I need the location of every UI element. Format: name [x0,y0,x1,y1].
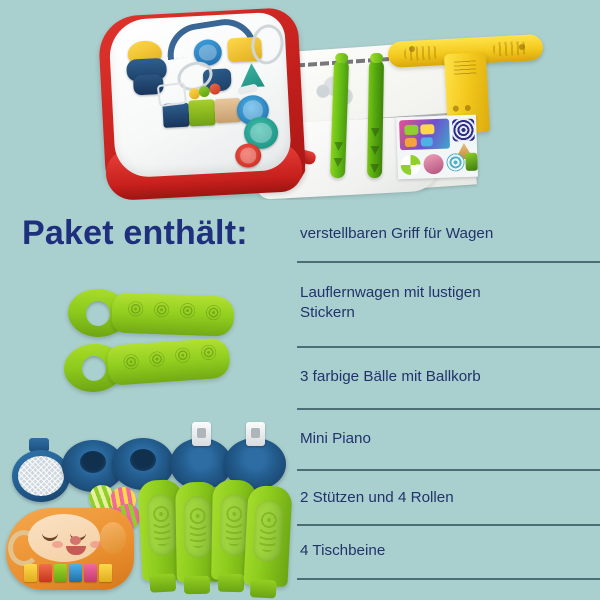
piano-cheek-right [90,541,101,548]
leg-emboss [190,508,207,548]
grip-arm [106,337,230,385]
rail-notch [371,128,380,137]
leg-foot [184,576,210,594]
walker-white-tray [108,12,292,179]
screw-hole [453,105,459,111]
rail-cap [370,53,383,63]
sticker-photo [465,153,478,171]
ball-basket-net [12,442,70,502]
green-rail-right [367,60,384,178]
list-item: Lauflernwagen mit lustigen Stickern [297,263,600,346]
green-slider-key [188,99,215,126]
leg-foot [218,574,244,592]
rail-notch [333,158,342,167]
piano-eye-left [42,530,58,541]
piano-key [54,564,67,582]
rail-notch [370,146,379,155]
leg-foot [149,573,176,592]
embossed-slot [237,83,258,95]
list-item-label: verstellbaren Griff für Wagen [297,206,600,261]
piano-key [69,564,82,582]
piano-mouth [66,546,86,555]
piano-key [99,564,112,582]
list-item: 4 Tischbeine [297,526,600,578]
swirl-emboss [201,344,217,360]
leg-emboss [153,506,171,547]
sticker-car [404,125,418,135]
sticker-pinwheel [400,155,421,176]
swirl-emboss [154,302,170,318]
list-item-label: 2 Stützen und 4 Rollen [297,471,600,524]
red-gear [235,143,262,168]
list-item: Mini Piano [297,410,600,469]
grip-arm [111,293,234,337]
leg-foot [250,579,277,598]
wheel-axle-cap [246,422,265,446]
basket-mesh [18,456,64,496]
list-item: 3 farbige Bälle mit Ballkorb [297,348,600,408]
screw-hole [409,46,415,52]
wheel-hub [130,449,156,471]
piano-keys [24,564,112,582]
screw-hole [465,105,471,111]
leg-emboss [226,506,243,546]
swirl-emboss [206,305,222,321]
sticker-maze [452,119,475,142]
list-item-label: 4 Tischbeine [297,526,600,578]
rail-cap [335,53,348,63]
product-listing-page: Paket enthält: verstellbaren Griff für W… [0,0,600,600]
piano-nose [70,536,81,545]
list-item: 2 Stützen und 4 Rollen [297,471,600,524]
page-title: Paket enthält: [22,214,248,253]
wheel-axle-cap [192,422,211,446]
sticker-sheet [396,115,478,180]
list-item-label: 3 farbige Bälle mit Ballkorb [297,348,600,408]
sticker-car [421,137,433,146]
green-support-grips-photo [52,284,282,408]
yellow-t-handle [388,33,543,128]
swirl-emboss [123,354,139,370]
green-grip-right [62,346,65,394]
list-item-label: Lauflernwagen mit lustigen Stickern [297,263,516,346]
list-item: verstellbaren Griff für Wagen [297,206,600,261]
swirl-emboss [128,301,144,317]
top-product-photo [0,0,600,200]
sticker-face [423,154,444,175]
swirl-emboss [180,303,196,319]
package-contents-list: verstellbaren Griff für Wagen Lauflernwa… [297,206,600,580]
green-grip-left [67,288,69,336]
piano-key [24,564,37,582]
swirl-emboss [175,347,191,363]
sticker-spiral [446,153,465,172]
green-table-leg-4 [243,485,292,587]
molded-label-text [454,60,477,75]
accessories-photo [0,430,295,600]
piano-key [39,564,52,582]
leg-emboss [259,512,277,553]
screw-hole [519,44,525,50]
basket-bowl [12,450,70,502]
embossed-square [157,82,187,107]
mini-piano-orange [6,508,134,590]
bead [208,82,221,95]
list-item-label: Mini Piano [297,410,600,469]
blue-slider-key [162,103,189,128]
wheel-hub [80,451,106,473]
sticker-car [405,138,417,147]
piano-key [84,564,97,582]
rail-notch [370,164,379,173]
activity-table-red-white [98,6,308,196]
piano-cheek-left [52,541,63,548]
piano-face [28,514,100,562]
rail-notch [334,142,343,151]
sticker-car [420,124,434,134]
swirl-emboss [149,351,165,367]
piano-ear [100,522,126,554]
list-divider [297,578,600,580]
